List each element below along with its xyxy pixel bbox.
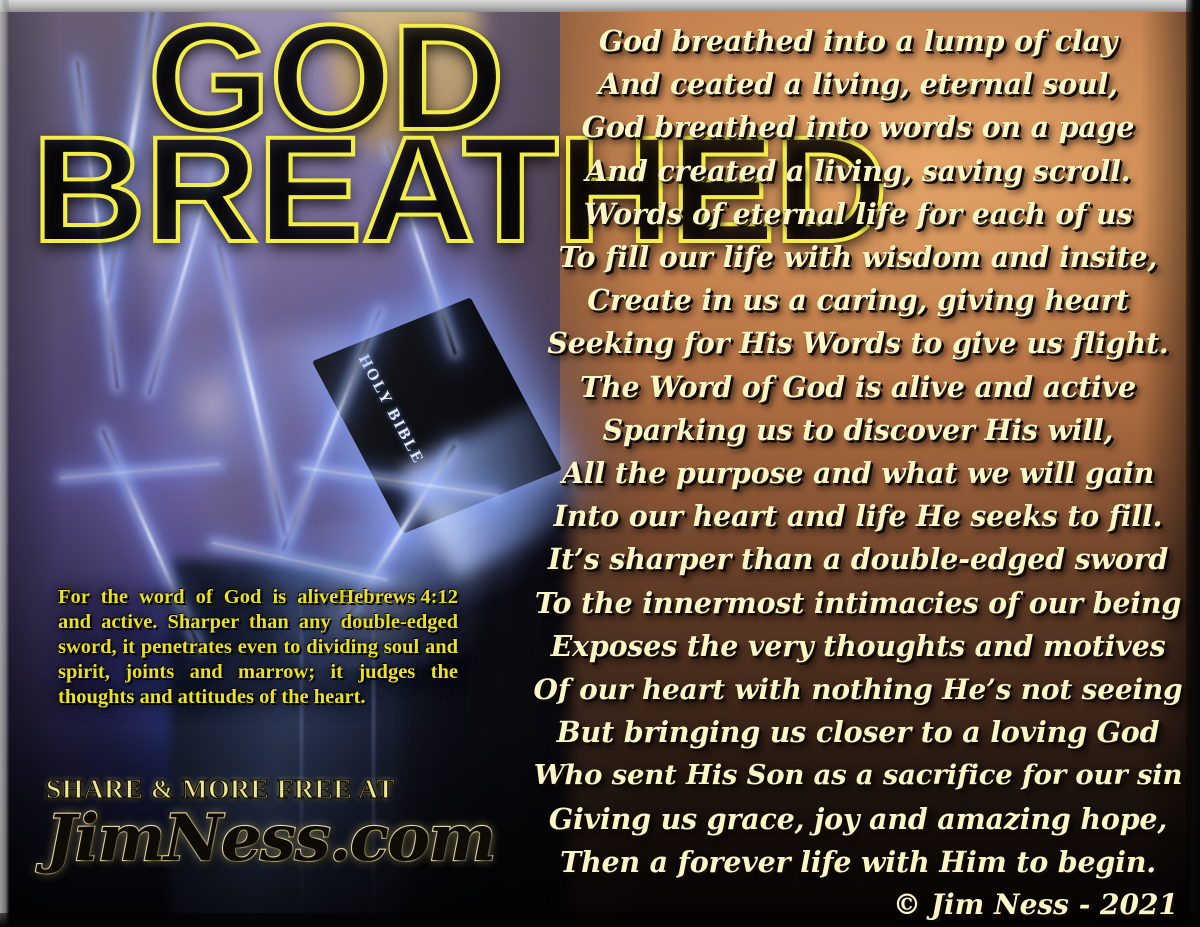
poem-line: The Word of God is alive and active bbox=[528, 366, 1188, 409]
frame-right-border bbox=[1186, 0, 1200, 927]
poster-title: GOD BREATHED bbox=[20, 14, 520, 252]
poem-line: All the purpose and what we will gain bbox=[528, 452, 1188, 495]
poem-credit: © Jim Ness - 2021 bbox=[528, 888, 1188, 921]
poem-lines: God breathed into a lump of clayAnd ceat… bbox=[528, 20, 1188, 884]
poem-line: Then a forever life with Him to begin. bbox=[528, 841, 1188, 884]
poem-line: Words of eternal life for each of us bbox=[528, 193, 1188, 236]
frame-left-border bbox=[0, 0, 9, 927]
poem-line: God breathed into words on a page bbox=[528, 106, 1188, 149]
share-callout: SHARE & MORE FREE AT bbox=[46, 774, 495, 805]
poem-line: Exposes the very thoughts and motives bbox=[528, 625, 1188, 668]
poem-line: Who sent His Son as a sacrifice for our … bbox=[528, 754, 1188, 797]
website-logo[interactable]: JimNess.com bbox=[46, 801, 486, 876]
poem-line: Create in us a caring, giving heart bbox=[528, 279, 1188, 322]
scripture-reference: Hebrews 4:12 bbox=[338, 585, 458, 610]
poem-line: And ceated a living, eternal soul, bbox=[528, 63, 1188, 106]
poem-line: And created a living, saving scroll. bbox=[528, 150, 1188, 193]
poster-canvas: HOLY BIBLE GOD BREATHED Hebrews 4:12 For… bbox=[0, 0, 1200, 927]
poem-line: But bringing us closer to a loving God bbox=[528, 711, 1188, 754]
poem-line: Giving us grace, joy and amazing hope, bbox=[528, 798, 1188, 841]
poem-line: God breathed into a lump of clay bbox=[528, 20, 1188, 63]
lightning-glow bbox=[120, 330, 300, 480]
poem-line: It’s sharper than a double-edged sword bbox=[528, 538, 1188, 581]
poem-block: God breathed into a lump of clayAnd ceat… bbox=[528, 20, 1188, 921]
title-line-breathed: BREATHED bbox=[32, 126, 544, 252]
poem-line: Seeking for His Words to give us flight. bbox=[528, 322, 1188, 365]
poem-line: Of our heart with nothing He’s not seein… bbox=[528, 668, 1188, 711]
poem-line: Into our heart and life He seeks to fill… bbox=[528, 495, 1188, 538]
scripture-block: Hebrews 4:12 For the word of God is aliv… bbox=[58, 585, 458, 710]
poem-line: Sparking us to discover His will, bbox=[528, 409, 1188, 452]
branding-block: SHARE & MORE FREE AT JimNess.com bbox=[46, 774, 486, 876]
poem-line: To fill our life with wisdom and insite, bbox=[528, 236, 1188, 279]
poem-line: To the innermost intimacies of our being bbox=[528, 582, 1188, 625]
